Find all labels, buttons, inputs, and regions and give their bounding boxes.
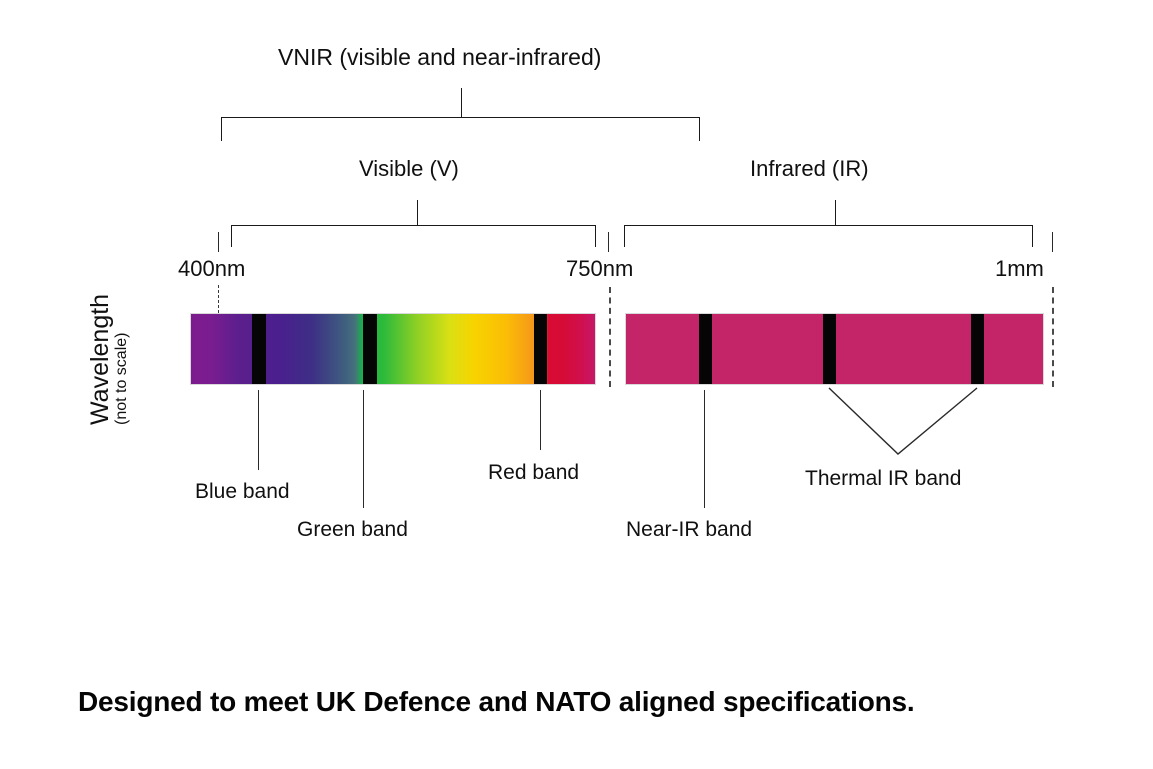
band-mark-green — [363, 314, 377, 384]
bracket-label-infrared: Infrared (IR) — [750, 158, 869, 180]
leader-near-ir-band — [704, 390, 705, 508]
thermal-ir-v-leader — [829, 388, 977, 454]
tick-400nm-upper — [218, 232, 219, 252]
band-mark-thermal-ir-1 — [823, 314, 836, 384]
axis-title: Wavelength — [88, 294, 113, 425]
visible-spectrum-bar — [190, 313, 596, 385]
leader-green-band — [363, 390, 364, 508]
tick-1mm-upper — [1052, 232, 1053, 252]
infrared-bracket — [624, 225, 1033, 247]
bracket-label-visible: Visible (V) — [359, 158, 459, 180]
scale-label-750nm: 750nm — [566, 258, 633, 280]
band-mark-red — [534, 314, 547, 384]
band-mark-thermal-ir-2 — [971, 314, 984, 384]
band-label-red: Red band — [488, 462, 579, 483]
axis-title-subtitle: (not to scale) — [114, 333, 130, 425]
figure-caption: Designed to meet UK Defence and NATO ali… — [78, 686, 914, 718]
leader-red-band — [540, 390, 541, 450]
spectrum-break-1mm — [1052, 287, 1054, 387]
vnir-bracket-stem — [461, 88, 462, 118]
leader-blue-band — [258, 390, 259, 470]
band-label-blue: Blue band — [195, 481, 290, 502]
band-mark-blue — [252, 314, 266, 384]
band-label-thermal-ir: Thermal IR band — [805, 468, 961, 489]
bracket-label-vnir: VNIR (visible and near-infrared) — [278, 46, 601, 69]
figure-canvas: VNIR (visible and near-infrared) Visible… — [0, 0, 1153, 769]
band-mark-near-ir — [699, 314, 712, 384]
vnir-bracket — [221, 117, 700, 141]
infrared-spectrum-bar — [625, 313, 1044, 385]
axis-title-group: Wavelength (not to scale) — [58, 270, 208, 430]
tick-750nm-upper — [608, 232, 609, 252]
visible-bracket-stem — [417, 200, 418, 226]
scale-label-1mm: 1mm — [995, 258, 1044, 280]
band-label-green: Green band — [297, 519, 408, 540]
visible-bracket — [231, 225, 596, 247]
infrared-bracket-stem — [835, 200, 836, 226]
band-label-near-ir: Near-IR band — [626, 519, 752, 540]
spectrum-break-750nm — [609, 287, 611, 387]
